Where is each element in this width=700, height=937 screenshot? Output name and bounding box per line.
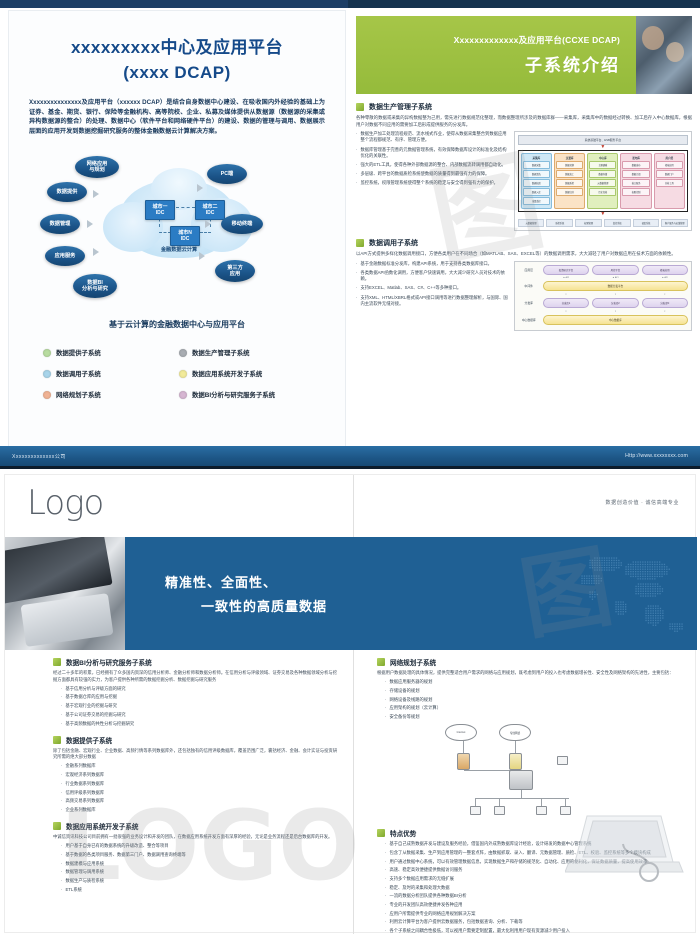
banner-text-area: 精准性、全面性、 一致性的高质量数据 <box>125 537 697 650</box>
footer-company: Xxxxxxxxxxxxxx公司 <box>12 453 66 460</box>
section-title: 数据BI分析与研究服务子系统 <box>66 657 152 667</box>
green-header-line-1: Xxxxxxxxxxxxx及应用平台(CCXE DCAP) <box>454 34 620 46</box>
network-server <box>457 753 470 770</box>
intro-paragraph: Xxxxxxxxxxxxxxx及应用平台（xxxxxx DCAP）是结合自身数据… <box>29 98 325 136</box>
bullet-item: ·数据管理与调用系统 <box>61 869 337 875</box>
section-bullet-icon <box>53 736 61 744</box>
api-label: ▲ API <box>592 277 638 279</box>
diagram-layer-cell: 终端应用 <box>642 265 688 275</box>
idc-node: 城市NIDC <box>170 226 200 246</box>
diagram-column: 中心库主题建模数据存储元数据管理历史归档 <box>587 153 618 209</box>
legend: 数据提供子系统数据生产管理子系统数据调用子系统数据应用系统开发子系统网络规划子系… <box>43 348 315 399</box>
title-line-1: xxxxxxxxx中心及应用平台 <box>71 38 283 57</box>
content-section: 数据调用子系统以API方式提供多样化数据调用接口，方便各类用户在不同场合（如MA… <box>356 238 692 331</box>
bullet-text: 稳定、及时的采集和处理大数据 <box>389 885 449 891</box>
legend-dot-icon <box>43 370 51 378</box>
banner-line-1: 精准性、全面性、 <box>165 572 697 591</box>
bullet-dot-icon: · <box>356 295 357 307</box>
diagram-layer-cells: 中心数据库 <box>543 315 688 325</box>
diagram-layer-bar: 中心数据库 <box>543 315 688 325</box>
section-bullet-icon <box>53 822 61 830</box>
bullet-item: ·基于公司证券交易的挖掘与研究 <box>61 712 337 718</box>
top-right-page: Xxxxxxxxxxxxx及应用平台(CCXE DCAP) 子系统介绍 数据生产… <box>350 10 692 450</box>
brochure-page: xxxxxxxxx中心及应用平台 (xxxx DCAP) Xxxxxxxxxxx… <box>0 0 700 937</box>
bullet-text: 基于宏观行业的挖掘与研究 <box>65 703 117 709</box>
network-link <box>475 798 569 799</box>
top-left-page: xxxxxxxxx中心及应用平台 (xxxx DCAP) Xxxxxxxxxxx… <box>8 10 346 450</box>
bullet-item: ·多层级、跨平台的数据质检系统使数据的质量得到最强有力的保障。 <box>356 171 508 177</box>
bullet-text: 基于数据的各类项目服务、数据第三门户、数据调用查询终端等 <box>65 852 185 858</box>
up-arrow-icon: ⇧ <box>592 293 638 296</box>
bullet-item: ·金融系列数据库 <box>61 763 337 769</box>
bullet-dot-icon: · <box>356 285 357 291</box>
bottom-spread: Logo 数据创造价值 · 诚信高端专业 精准性、全面性、 一致性的高质量数据 … <box>0 470 700 937</box>
bullet-text: 信用评级系列数据库 <box>65 790 104 796</box>
bullet-item: ·数据应用服务器的规划 <box>385 679 679 685</box>
idc-node: 城市二IDC <box>195 200 225 220</box>
api-labels: ▲ API▲ API▲ API <box>543 277 688 279</box>
diagram-cell: 历史归档 <box>589 188 616 196</box>
data-production-flow-diagram: 系统基础平台、ESB服务平台▼采集库数据采集数据清洗数据校验数据入库采集监控过渡… <box>514 131 692 231</box>
diagram-cell: 元数据管理 <box>589 179 616 187</box>
cloud-node: 网络应用与规划 <box>75 156 119 178</box>
legend-dot-icon <box>179 349 187 357</box>
cloud-diagram: 城市一IDC 城市二IDC 城市NIDC 金融数据云计算 网络应用与规划 数据提… <box>9 142 347 317</box>
bullet-text: 数据管理与调用系统 <box>65 869 104 875</box>
legend-item: 数据提供子系统 <box>43 348 179 357</box>
bullet-dot-icon: · <box>61 878 62 884</box>
bullet-dot-icon: · <box>61 686 62 692</box>
bullet-text: 数据生产加工处理流程规范、流水线式作业，使得从数据采集整合到数据应用整个流程都规… <box>360 131 507 143</box>
bullet-item: ·基于宏观行业的挖掘与研究 <box>61 703 337 709</box>
bullet-text: 基于公司证券交易的挖掘与研究 <box>65 712 125 718</box>
idc-node: 城市一IDC <box>145 200 175 220</box>
bullet-text: 多层级、跨平台的数据质检系统使数据的质量得到最强有力的保障。 <box>360 171 489 177</box>
cloud-node: 数据管理 <box>40 214 80 234</box>
laptop-stethoscope-icon <box>565 810 685 888</box>
up-arrow-icon: ⇧ <box>592 310 638 313</box>
up-arrows: ⇧⇧⇧ <box>543 293 688 296</box>
diagram-column-title: 过渡库 <box>556 156 583 160</box>
bullet-text: 基于高频数据的共性分析与挖掘研究 <box>65 721 134 727</box>
down-arrow-icon: ▼ <box>518 212 688 217</box>
section-bullet-icon <box>356 103 364 111</box>
arrow-icon <box>197 184 203 192</box>
green-header-line-2: 子系统介绍 <box>525 51 620 76</box>
diagram-arrow-row: ⇧⇧⇧ <box>518 293 688 296</box>
arrow-icon <box>93 190 99 198</box>
section-intro: 各种零散的数据或采集的异构数据整为己用，需先进行数据规范化整理，而数据整理所涉及… <box>356 115 692 128</box>
diagram-cell: 分析工具 <box>656 179 683 187</box>
diagram-cell: 数据校验 <box>523 179 550 187</box>
network-link <box>475 798 476 806</box>
bullet-dot-icon: · <box>385 850 386 856</box>
bullet-text: 应用架构的规划（云计算） <box>389 705 441 711</box>
section-header: 数据BI分析与研究服务子系统 <box>53 657 337 667</box>
bullet-item: ·基于金融数据标准分发库，构建API系统，用于支持各类数据库接口。 <box>356 261 508 267</box>
bullet-text: ETL系统 <box>65 887 81 893</box>
bullet-text: 数据库管理基于完善的元数据管理系统，有效保障数据库设计的标准化及结构优化的关联性… <box>360 147 507 159</box>
section-title: 数据生产管理子系统 <box>369 102 432 112</box>
bullet-text: 应用户所需提供专业的网络应用规划解决方案 <box>389 911 475 917</box>
arrow-icon <box>205 220 211 228</box>
bullet-dot-icon: · <box>61 763 62 769</box>
section-intro: 根据用户数据处理的具体情况，提供完整适合用户需求的网络与应用规划，既考虑到用户的… <box>377 670 679 677</box>
diagram-column: 过渡库数据转换数据加工数据质检数据归并 <box>554 153 585 209</box>
bullet-dot-icon: · <box>385 688 386 694</box>
legend-label: 数据调用子系统 <box>56 369 101 378</box>
bullet-item: ·数据库管理基于完善的元数据管理系统，有效保障数据库设计的标准化及结构优化的关联… <box>356 147 508 159</box>
up-arrow-icon: ⇧ <box>642 310 688 313</box>
cloud-node: 数据提供 <box>47 182 87 202</box>
api-label: ▲ API <box>642 277 688 279</box>
network-client <box>536 806 547 815</box>
cloud-node: PC端 <box>207 164 247 184</box>
bullet-dot-icon: · <box>61 887 62 893</box>
section-bullet-icon <box>356 239 364 247</box>
bullet-dot-icon: · <box>61 852 62 858</box>
bullet-item: ·高频交易系列数据库 <box>61 798 337 804</box>
diagram-column-title: 采集库 <box>523 156 550 160</box>
bullet-dot-icon: · <box>385 876 386 882</box>
bullet-item: ·基于信用分析与评级方面的研究 <box>61 686 337 692</box>
idc-link <box>200 232 211 233</box>
bottom-columns: 数据BI分析与研究服务子系统经过二十多年的积累，已经拥有了众多国内资深的信用分析… <box>5 657 697 937</box>
section-title: 数据调用子系统 <box>369 238 418 248</box>
legend-label: 数据提供子系统 <box>56 348 101 357</box>
banner-line-2: 一致性的高质量数据 <box>201 596 697 615</box>
diagram-cell: 数据订阅 <box>622 170 649 178</box>
world-dot-map-icon <box>437 537 697 650</box>
diagram-layer-label: 应用层 <box>518 268 540 272</box>
bullet-text: 各类数据API函数化调用，方便客户快速调用，大大减少研究人员对技术的依赖。 <box>360 270 507 282</box>
section-bullet-icon <box>377 658 385 666</box>
bullet-item: ·基于数据的各类项目服务、数据第三门户、数据调用查询终端等 <box>61 852 337 858</box>
network-link <box>463 741 464 753</box>
figure-caption: 基于云计算的金融数据中心与应用平台 <box>9 319 345 330</box>
network-client <box>557 756 568 765</box>
bullet-dot-icon: · <box>356 261 357 267</box>
section-header: 网络规划子系统 <box>377 657 679 667</box>
legend-label: 网络规划子系统 <box>56 390 101 399</box>
legend-item: 网络规划子系统 <box>43 390 179 399</box>
arrow-icon <box>87 220 93 228</box>
diagram-cell: 数据清洗 <box>523 170 550 178</box>
diagram-layer-cell: 投资研究平台 <box>543 265 589 275</box>
bullet-text: 金融系列数据库 <box>65 763 95 769</box>
bullet-text: 支持XML、HTML/XBRL格式或API接口调用等进行数据整理解析，与国际、国… <box>360 295 507 307</box>
section-title: 数据应用系统开发子系统 <box>66 821 139 831</box>
bullet-item: ·利用云计算平台为客户提供云数据服务，包括数据查询、分析、下载等 <box>385 919 679 925</box>
up-arrow-icon: ⇧ <box>543 293 589 296</box>
api-label: ▲ API <box>543 277 589 279</box>
bottom-page: Logo 数据创造价值 · 诚信高端专业 精准性、全面性、 一致性的高质量数据 … <box>4 474 696 933</box>
page-footer: Xxxxxxxxxxxxxx公司 Http://www.xxxxxxxx.com <box>0 446 700 466</box>
network-client <box>470 806 481 815</box>
bullet-dot-icon: · <box>385 911 386 917</box>
bullet-item: ·支持EXCEL、Matlab、SAS、C#、C++等多种接口。 <box>356 285 508 291</box>
diagram-cell: 主题建模 <box>589 161 616 169</box>
section-title: 特点优势 <box>390 828 416 838</box>
legend-item: 数据BI分析与研究服务子系统 <box>179 390 315 399</box>
legend-dot-icon <box>43 349 51 357</box>
bullet-dot-icon: · <box>61 843 62 849</box>
bullet-dot-icon: · <box>356 147 357 159</box>
section-bullet-icon <box>377 829 385 837</box>
section-intro: 经过二十多年的积累，已经拥有了众多国内资深的信用分析师、金融分析师和数据分析师。… <box>53 670 337 683</box>
diagram-bottom-item: 元数据管理 <box>518 219 545 227</box>
bullet-text: 数据应用服务器的规划 <box>389 679 432 685</box>
section-header: 数据应用系统开发子系统 <box>53 821 337 831</box>
bullet-text: 网络设备及线路的规划 <box>389 697 432 703</box>
diagram-layer-cells: 投资研究平台风控平台终端应用 <box>543 265 688 275</box>
content-section: 数据应用系统开发子系统中诚信资讯科技公司目前拥有一批很强的业务设计和开发的团队，… <box>53 821 337 893</box>
tagline: 数据创造价值 · 诚信高端专业 <box>606 499 679 506</box>
section-body: ·基于金融数据标准分发库，构建API系统，用于支持各类数据库接口。·各类数据AP… <box>356 261 692 331</box>
bullet-text: 数据生产与质检系统 <box>65 878 104 884</box>
banner-photo <box>5 537 125 650</box>
diagram-layer-cells: 分发库1分发库2分发库N <box>543 298 688 308</box>
bullet-item: ·强大的ETL工具，使得各种外部数据源的整合、内部数据流转调用都自动化。 <box>356 162 508 168</box>
bullet-item: ·数据建模与应用系统 <box>61 861 337 867</box>
diagram-layer-label: 中心数据库 <box>518 318 540 322</box>
bullet-item: ·一流的数据分析团队提供各种数据BI分析 <box>385 893 679 899</box>
bullet-dot-icon: · <box>61 790 62 796</box>
bullet-dot-icon: · <box>61 721 62 727</box>
hero-banner: 精准性、全面性、 一致性的高质量数据 <box>5 537 697 650</box>
diagram-bottom-item: 权限管理 <box>575 219 602 227</box>
diagram-layer-label: 中间件 <box>518 284 540 288</box>
right-sections: 数据生产管理子系统各种零散的数据或采集的异构数据整为己用，需先进行数据规范化整理… <box>356 102 692 338</box>
bullet-item: ·安全备份等规划 <box>385 714 679 720</box>
bullet-dot-icon: · <box>356 171 357 177</box>
section-title: 数据提供子系统 <box>66 735 112 745</box>
diagram-layer-row: 中间件数据分发平台 <box>518 281 688 291</box>
diagram-layer-cell: 分发库1 <box>543 298 589 308</box>
arrow-icon <box>199 252 205 260</box>
diagram-arrow-row: ⇧⇧⇧ <box>518 310 688 313</box>
diagram-layer-row: 中心数据库中心数据库 <box>518 315 688 325</box>
up-arrow-icon: ⇧ <box>642 293 688 296</box>
section-header: 数据调用子系统 <box>356 238 692 248</box>
section-body: ·数据生产加工处理流程规范、流水线式作业，使得从数据采集整合到数据应用整个流程都… <box>356 131 692 231</box>
bullet-text: 用户基于自身已有的数据系统的升级改造、整合等项目 <box>65 843 168 849</box>
bullet-text: 强大的ETL工具，使得各种外部数据源的整合、内部数据流转调用都自动化。 <box>360 162 505 168</box>
diagram-cell: 数据转换 <box>556 161 583 169</box>
bullet-dot-icon: · <box>385 919 386 925</box>
title-line-2: (xxxx DCAP) <box>9 62 345 84</box>
logo: Logo <box>27 483 103 523</box>
bullet-text: 企业系列数据库 <box>65 807 95 813</box>
diagram-cell: 数据存储 <box>589 170 616 178</box>
diagram-column-title: 中心库 <box>589 156 616 160</box>
diagram-column-title: 用户层 <box>656 156 683 160</box>
bullet-dot-icon: · <box>385 893 386 899</box>
bullet-text: 各个子系统之间耦合性极低，可以视用户需要定制配置，最大化利用用户现有资源减少用户… <box>389 928 569 934</box>
bullet-text: 存储设备的规划 <box>389 688 419 694</box>
bullet-text: 支持多个数据应用需求的无缝扩展 <box>389 876 453 882</box>
legend-label: 数据生产管理子系统 <box>192 348 250 357</box>
content-section: 网络规划子系统根据用户数据处理的具体情况，提供完整适合用户需求的网络与应用规划，… <box>377 657 679 820</box>
diagram-layer-row: 分发库分发库1分发库2分发库N <box>518 298 688 308</box>
legend-label: 数据应用系统开发子系统 <box>192 369 262 378</box>
bullet-text: 安全备份等规划 <box>389 714 419 720</box>
header-photo <box>636 16 692 94</box>
network-link <box>515 741 516 753</box>
section-intro: 除了包括金融、宏观行业、企业数据、高频行情等系列数据库外，还包括独有的信用评级数… <box>53 748 337 761</box>
page-title: xxxxxxxxx中心及应用平台 (xxxx DCAP) <box>9 37 345 84</box>
bullet-item: ·专业的开发团队高效便捷并发各种应用 <box>385 902 679 908</box>
legend-item: 数据应用系统开发子系统 <box>179 369 315 378</box>
section-intro: 中诚信资讯科技公司目前拥有一批很强的业务设计和开发的团队，在数据应用系统开发方面… <box>53 834 337 841</box>
cloud-caption: 金融数据云计算 <box>139 246 219 253</box>
content-section: 数据提供子系统除了包括金融、宏观行业、企业数据、高频行情等系列数据库外，还包括独… <box>53 735 337 813</box>
bullet-item: ·数据生产加工处理流程规范、流水线式作业，使得从数据采集整合到数据应用整个流程都… <box>356 131 508 143</box>
bullet-dot-icon: · <box>385 885 386 891</box>
network-topology-diagram: Internet专线网络 <box>437 724 607 820</box>
footer-rule <box>0 466 700 469</box>
bullet-text: 宏观经济系列数据库 <box>65 772 104 778</box>
bullet-dot-icon: · <box>385 841 386 847</box>
diagram-cell: 数据发布 <box>622 161 649 169</box>
bullet-text: 基于信用分析与评级方面的研究 <box>65 686 125 692</box>
cloud-node: 第三方应用 <box>215 260 255 282</box>
content-section: 数据BI分析与研究服务子系统经过二十多年的积累，已经拥有了众多国内资深的信用分析… <box>53 657 337 727</box>
section-bullet-icon <box>53 658 61 666</box>
bottom-left-column: 数据BI分析与研究服务子系统经过二十多年的积累，已经拥有了众多国内资深的信用分析… <box>5 657 351 937</box>
bullet-item: ·信用评级系列数据库 <box>61 790 337 796</box>
green-header: Xxxxxxxxxxxxx及应用平台(CCXE DCAP) 子系统介绍 <box>356 16 636 94</box>
bullet-item: ·ETL系统 <box>61 887 337 893</box>
bullet-dot-icon: · <box>356 162 357 168</box>
bullet-text: 一流的数据分析团队提供各种数据BI分析 <box>389 893 466 899</box>
bullet-text: 监控系统，权限管理系统使得整个系统的稳定与安全得到强有力的保护。 <box>360 180 498 186</box>
bullet-item: ·行业数据系列数据库 <box>61 781 337 787</box>
network-core-db <box>509 770 533 790</box>
diagram-cell: 数据门户 <box>656 170 683 178</box>
diagram-column: 用户层终端应用数据门户分析工具 <box>654 153 685 209</box>
section-header: 数据提供子系统 <box>53 735 337 745</box>
bullet-dot-icon: · <box>61 772 62 778</box>
footer-url[interactable]: Http://www.xxxxxxxx.com <box>625 453 688 459</box>
bullet-dot-icon: · <box>61 703 62 709</box>
cloud-node: 应用服务 <box>45 246 85 266</box>
bullet-item: ·应用架构的规划（云计算） <box>385 705 679 711</box>
up-arrows: ⇧⇧⇧ <box>543 310 688 313</box>
bullet-item: ·数据生产与质检系统 <box>61 878 337 884</box>
diagram-column: 采集库数据采集数据清洗数据校验数据入库采集监控 <box>521 153 552 209</box>
cloud-node: 移动终端 <box>221 214 263 234</box>
diagram-cell: 接口服务 <box>622 179 649 187</box>
bullet-dot-icon: · <box>385 859 386 865</box>
bullet-item: ·基于高频数据的共性分析与挖掘研究 <box>61 721 337 727</box>
bullet-item: ·应用户所需提供专业的网络应用规划解决方案 <box>385 911 679 917</box>
bullet-dot-icon: · <box>61 781 62 787</box>
diagram-bottom-item: 监控系统 <box>604 219 631 227</box>
bullet-dot-icon: · <box>356 270 357 282</box>
bullet-item: ·基于数据仓库的应用与挖掘 <box>61 694 337 700</box>
network-server <box>509 753 522 770</box>
bullet-dot-icon: · <box>385 705 386 711</box>
diagram-layer-cell: 风控平台 <box>592 265 638 275</box>
diagram-layer-cells: 数据分发平台 <box>543 281 688 291</box>
network-link <box>499 798 500 806</box>
diagram-cell: 数据质检 <box>556 179 583 187</box>
bullet-dot-icon: · <box>61 798 62 804</box>
diagram-bottom-row: 元数据管理质检系统权限管理监控系统调度系统客户服务与运维管理 <box>518 219 688 227</box>
legend-label: 数据BI分析与研究服务子系统 <box>192 390 275 399</box>
network-cloud: Internet <box>445 724 477 741</box>
arrow-icon <box>93 248 99 256</box>
bullet-dot-icon: · <box>61 694 62 700</box>
diagram-cell: 数据加工 <box>556 170 583 178</box>
bullet-list: ·数据生产加工处理流程规范、流水线式作业，使得从数据采集整合到数据应用整个流程都… <box>356 131 508 231</box>
bullet-item: ·各类数据API函数化调用，方便客户快速调用，大大减少研究人员对技术的依赖。 <box>356 270 508 282</box>
diagram-layer-cell: 分发库2 <box>592 298 638 308</box>
bullet-dot-icon: · <box>61 712 62 718</box>
bullet-list: ·基于金融数据标准分发库，构建API系统，用于支持各类数据库接口。·各类数据AP… <box>356 261 508 331</box>
diagram-cell: 数据归并 <box>556 188 583 196</box>
diagram-layer-cell: 分发库N <box>642 298 688 308</box>
content-section: 数据生产管理子系统各种零散的数据或采集的异构数据整为己用，需先进行数据规范化整理… <box>356 102 692 231</box>
legend-dot-icon <box>179 370 187 378</box>
diagram-bottom-item: 客户服务与运维管理 <box>661 219 688 227</box>
bullet-text: 基于自己成熟数据开发与建设及服务经验，借鉴国内外成熟数据库设计经验，设计研发的数… <box>389 841 591 847</box>
bullet-dot-icon: · <box>385 867 386 873</box>
network-link <box>541 798 542 806</box>
network-client <box>494 806 505 815</box>
bullet-item: ·宏观经济系列数据库 <box>61 772 337 778</box>
up-arrow-icon: ⇧ <box>543 310 589 313</box>
legend-dot-icon <box>179 391 187 399</box>
bullet-item: ·存储设备的规划 <box>385 688 679 694</box>
bullet-item: ·监控系统，权限管理系统使得整个系统的稳定与安全得到强有力的保护。 <box>356 180 508 186</box>
diagram-api-row: ▲ API▲ API▲ API <box>518 277 688 279</box>
bullet-item: ·企业系列数据库 <box>61 807 337 813</box>
bullet-text: 利用云计算平台为客户提供云数据服务，包括数据查询、分析、下载等 <box>389 919 522 925</box>
bullet-dot-icon: · <box>385 679 386 685</box>
bullet-dot-icon: · <box>356 131 357 143</box>
data-access-layer-diagram: 应用层投资研究平台风控平台终端应用▲ API▲ API▲ API中间件数据分发平… <box>514 261 692 331</box>
bullet-text: 支持EXCEL、Matlab、SAS、C#、C++等多种接口。 <box>360 285 461 291</box>
diagram-layer-label: 分发库 <box>518 301 540 305</box>
diagram-cell: 数据采集 <box>523 161 550 169</box>
bullet-item: ·支持XML、HTML/XBRL格式或API接口调用等进行数据整理解析，与国际、… <box>356 295 508 307</box>
network-link <box>565 798 566 806</box>
bullet-dot-icon: · <box>61 807 62 813</box>
idc-link <box>176 207 195 208</box>
bullet-text: 高频交易系列数据库 <box>65 798 104 804</box>
diagram-layer-row: 应用层投资研究平台风控平台终端应用 <box>518 265 688 275</box>
legend-item: 数据生产管理子系统 <box>179 348 315 357</box>
diagram-cell: 权限控制 <box>622 188 649 196</box>
diagram-columns: 采集库数据采集数据清洗数据校验数据入库采集监控过渡库数据转换数据加工数据质检数据… <box>518 150 688 212</box>
bullet-item: ·用户基于自身已有的数据系统的升级改造、整合等项目 <box>61 843 337 849</box>
bullet-dot-icon: · <box>385 902 386 908</box>
diagram-bottom-item: 质检系统 <box>546 219 573 227</box>
diagram-bottom-item: 调度系统 <box>633 219 660 227</box>
top-spread: xxxxxxxxx中心及应用平台 (xxxx DCAP) Xxxxxxxxxxx… <box>0 0 700 470</box>
diagram-cell: 终端应用 <box>656 161 683 169</box>
bullet-item: ·各个子系统之间耦合性极低，可以视用户需要定制配置，最大化利用用户现有资源减少用… <box>385 928 679 934</box>
bullet-text: 行业数据系列数据库 <box>65 781 104 787</box>
bottom-right-column: 网络规划子系统根据用户数据处理的具体情况，提供完整适合用户需求的网络与应用规划，… <box>351 657 697 937</box>
bullet-dot-icon: · <box>385 928 386 934</box>
bullet-text: 高速、稳定高效便捷提供数据访问服务 <box>389 867 462 873</box>
bullet-dot-icon: · <box>356 180 357 186</box>
cloud-node: 数据BI分析与研究 <box>73 274 117 298</box>
section-intro: 以API方式提供多样化数据调用接口，方便各类用户在不同场合（如MATLAB、SA… <box>356 251 692 258</box>
